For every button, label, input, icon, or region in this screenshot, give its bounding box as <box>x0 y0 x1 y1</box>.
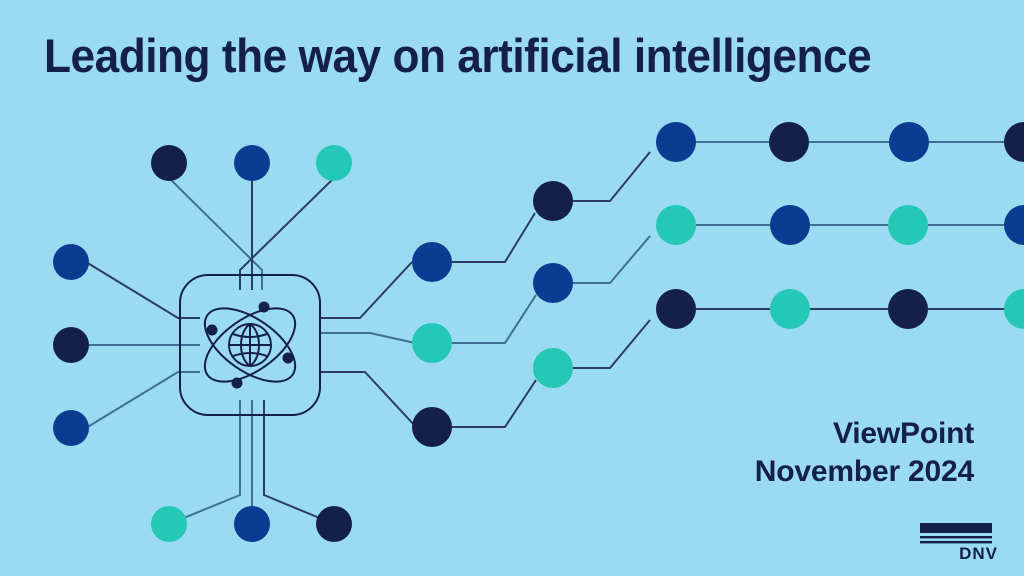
node-top-center <box>234 145 270 181</box>
chain-row-bottom-node-1 <box>412 407 452 447</box>
chain-row-middle-node-6 <box>1004 205 1024 245</box>
chain-row-middle-node-2 <box>533 263 573 303</box>
bridge-to-row-bottom <box>320 372 416 427</box>
stem-bottom-right <box>264 400 334 524</box>
publication-name: ViewPoint <box>755 415 974 453</box>
node-left-upper <box>53 244 89 280</box>
chain-row-middle-node-1 <box>412 323 452 363</box>
chain-top-step2 <box>573 152 650 201</box>
page-title: Leading the way on artificial intelligen… <box>44 31 937 81</box>
slide-canvas: Leading the way on artificial intelligen… <box>0 0 1024 576</box>
logo-wordmark: DNV <box>959 544 998 563</box>
dnv-logo: DNV <box>914 521 1006 567</box>
bridge-to-row-top <box>320 262 412 318</box>
chain-row-middle <box>412 205 1024 363</box>
chain-top-step1 <box>452 213 535 262</box>
chain-row-top-node-4 <box>769 122 809 162</box>
chain-row-top-node-1 <box>412 242 452 282</box>
chain-node-group <box>412 122 1024 447</box>
node-top-left <box>151 145 187 181</box>
node-top-right <box>316 145 352 181</box>
electron-4 <box>207 325 218 336</box>
atom-globe-symbol <box>192 294 307 396</box>
chain-row-top-node-5 <box>889 122 929 162</box>
chain-row-top <box>412 122 1024 282</box>
node-left-middle <box>53 327 89 363</box>
chain-row-bottom-node-2 <box>533 348 573 388</box>
chain-row-bottom-node-4 <box>770 289 810 329</box>
chain-row-top-node-6 <box>1004 122 1024 162</box>
node-left-lower <box>53 410 89 446</box>
stem-top-right <box>240 163 334 290</box>
node-bottom-center <box>234 506 270 542</box>
node-bottom-left <box>151 506 187 542</box>
chain-row-top-node-2 <box>533 181 573 221</box>
chain-row-middle-node-5 <box>888 205 928 245</box>
chain-row-middle-node-4 <box>770 205 810 245</box>
chain-bot-step1 <box>452 380 536 427</box>
electron-2 <box>283 353 294 364</box>
chain-row-top-node-3 <box>656 122 696 162</box>
electron-3 <box>232 378 243 389</box>
logo-bar-thick <box>920 523 992 533</box>
publication-block: ViewPoint November 2024 <box>755 415 974 492</box>
chain-mid-step1 <box>452 295 536 343</box>
node-bottom-right <box>316 506 352 542</box>
chain-mid-step2 <box>573 236 650 283</box>
publication-date: November 2024 <box>755 453 974 491</box>
chain-row-bottom-node-6 <box>1004 289 1024 329</box>
chain-bot-step2 <box>573 320 650 368</box>
chain-row-bottom-node-5 <box>888 289 928 329</box>
chain-row-bottom-node-3 <box>656 289 696 329</box>
electron-1 <box>259 302 270 313</box>
stem-top-left <box>169 163 262 290</box>
chain-row-middle-node-3 <box>656 205 696 245</box>
ai-chip-icon <box>180 275 320 415</box>
logo-bar-thin-1 <box>920 536 992 538</box>
bridge-to-row-middle <box>320 333 415 343</box>
stem-bottom-left <box>169 400 240 524</box>
